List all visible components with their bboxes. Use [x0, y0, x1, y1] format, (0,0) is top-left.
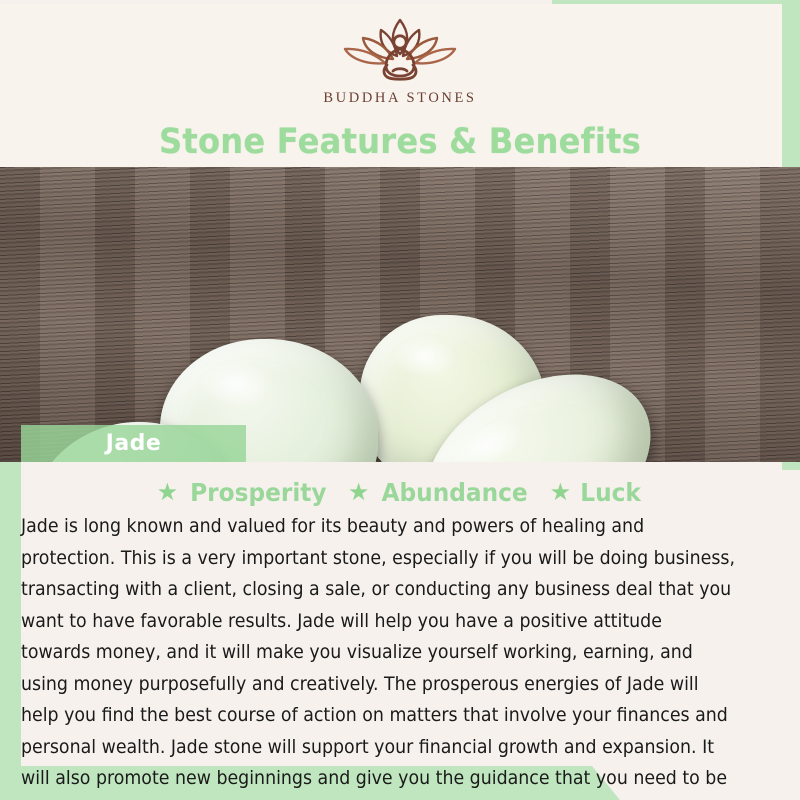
benefit-label: Luck	[580, 478, 641, 507]
benefit-item: ★ Luck	[550, 478, 644, 507]
page-title: Stone Features & Benefits	[32, 122, 768, 162]
benefit-label: Abundance	[382, 478, 528, 507]
benefit-label: Prosperity	[190, 478, 326, 507]
brand-name: BUDDHA STONES	[0, 90, 800, 107]
benefit-item: ★ Prosperity	[157, 478, 332, 507]
brand-logo: BUDDHA STONES	[0, 16, 800, 107]
stone-name-label: Jade	[106, 431, 162, 456]
stone-info-poster: BUDDHA STONES Stone Features & Benefits …	[0, 0, 800, 800]
stone-name-banner: Jade	[21, 425, 246, 462]
lotus-meditation-icon	[325, 16, 475, 88]
star-icon: ★	[550, 481, 572, 505]
stone-description: Jade is long known and valued for its be…	[21, 511, 736, 800]
star-icon: ★	[157, 481, 179, 505]
star-icon: ★	[348, 481, 370, 505]
benefits-row: ★ Prosperity ★ Abundance ★ Luck	[0, 478, 800, 507]
benefit-item: ★ Abundance	[348, 478, 534, 507]
stone-photo	[0, 167, 800, 462]
